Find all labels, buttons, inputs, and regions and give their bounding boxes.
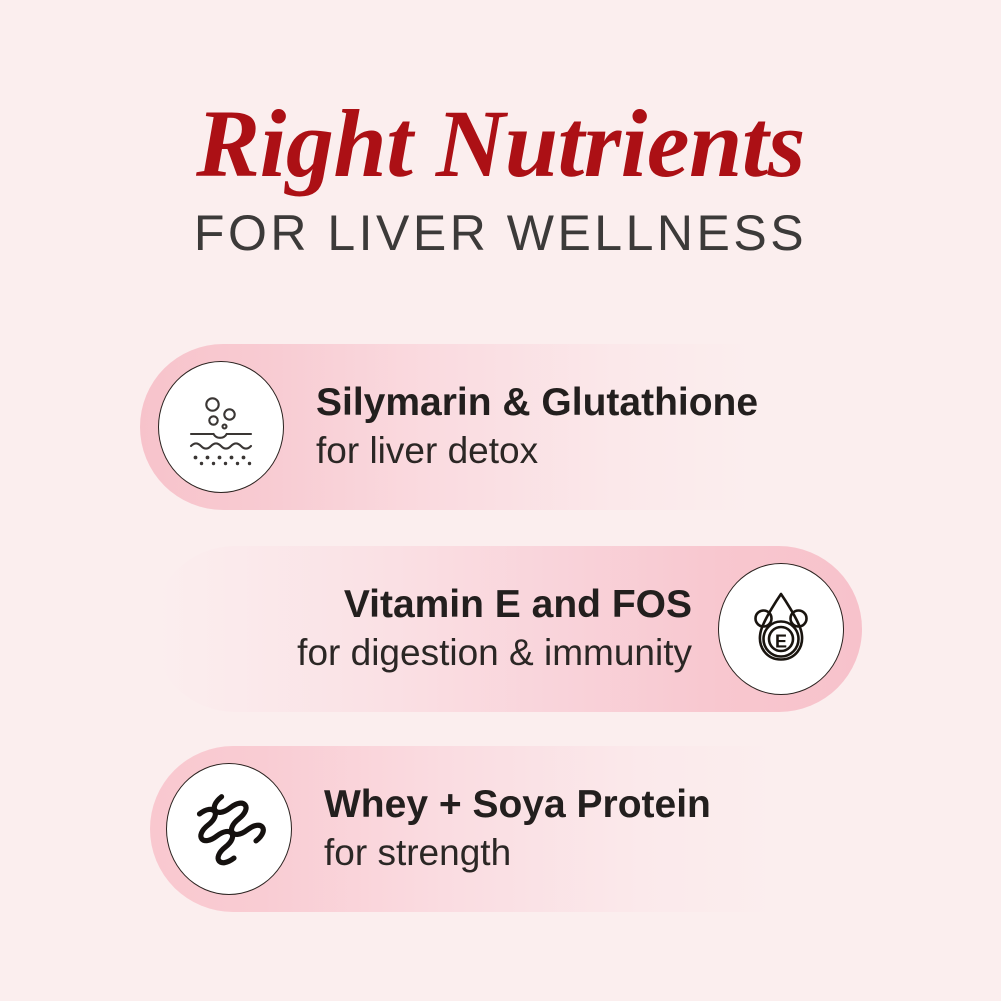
page-subtitle: FOR LIVER WELLNESS [0, 208, 1001, 258]
benefit-card-silymarin-glutathione: Silymarin & Glutathione for liver detox [140, 344, 840, 510]
dna-helix-icon [166, 763, 292, 895]
benefit-caption: for strength [324, 831, 711, 875]
benefit-text-block: Vitamin E and FOS for digestion & immuni… [297, 583, 718, 674]
benefit-headline: Whey + Soya Protein [324, 783, 711, 827]
vitamin-e-droplet-icon: E [718, 563, 844, 695]
benefit-card-vitamin-e-fos: Vitamin E and FOS for digestion & immuni… [152, 546, 862, 712]
benefit-card-whey-soya-protein: Whey + Soya Protein for strength [150, 746, 850, 912]
benefit-caption: for liver detox [316, 429, 758, 473]
benefit-headline: Silymarin & Glutathione [316, 381, 758, 425]
poster-header: Right Nutrients FOR LIVER WELLNESS [0, 96, 1001, 258]
svg-text:E: E [775, 632, 787, 652]
benefit-text-block: Silymarin & Glutathione for liver detox [284, 381, 758, 472]
liver-wellness-poster: Right Nutrients FOR LIVER WELLNESS [0, 0, 1001, 1001]
benefit-caption: for digestion & immunity [297, 631, 692, 675]
skin-absorption-detox-icon [158, 361, 284, 493]
benefit-text-block: Whey + Soya Protein for strength [292, 783, 711, 874]
page-title: Right Nutrients [0, 96, 1001, 192]
benefit-headline: Vitamin E and FOS [297, 583, 692, 627]
